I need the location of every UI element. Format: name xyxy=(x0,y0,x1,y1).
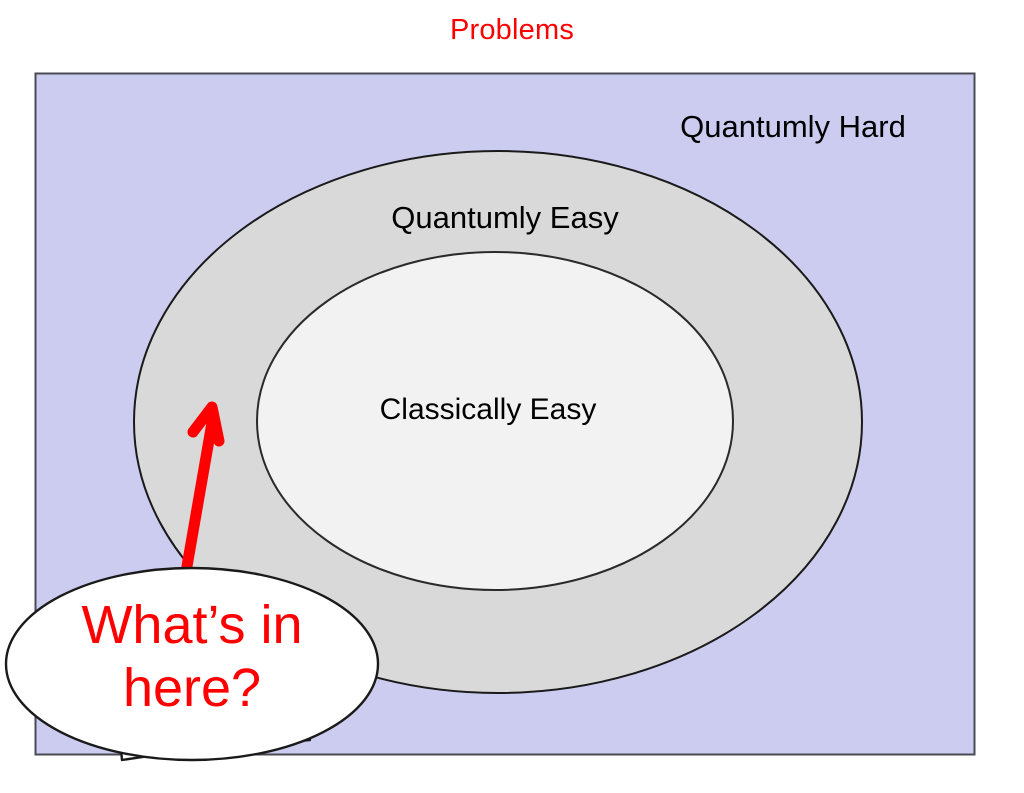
callout-text-line1: What’s in xyxy=(14,594,370,657)
label-quantumly-easy: Quantumly Easy xyxy=(0,201,1017,235)
label-classically-easy: Classically Easy xyxy=(0,393,1000,426)
slide-canvas: Problems Quantumly Hard Quantumly Easy C… xyxy=(0,0,1024,793)
callout-text: What’s in here? xyxy=(14,594,370,719)
label-quantumly-hard: Quantumly Hard xyxy=(281,110,1024,144)
callout-text-line2: here? xyxy=(14,657,370,720)
